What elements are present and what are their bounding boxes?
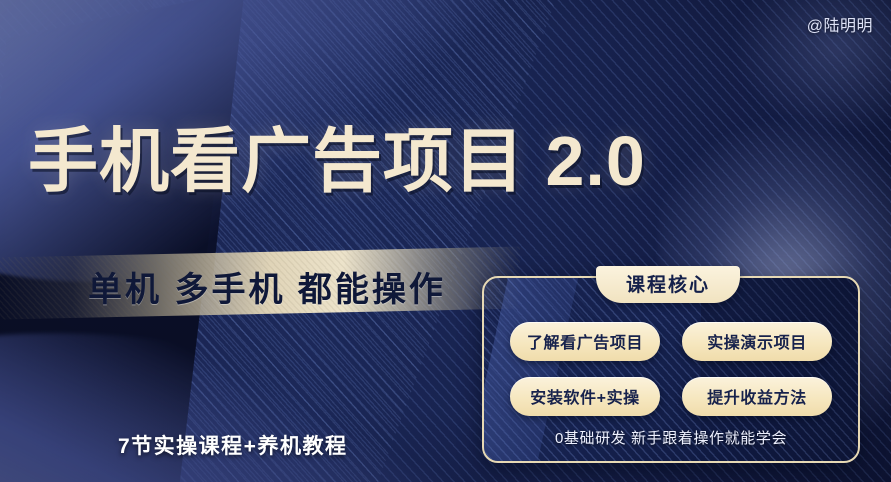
watermark-handle: @陆明明 [807, 12, 873, 36]
core-panel-banner: 课程核心 [596, 266, 740, 303]
course-count-line: 7节实操课程+养机教程 [118, 430, 347, 460]
promo-poster: @陆明明 手机看广告项目 2.0 单机 多手机 都能操作 7节实操课程+养机教程… [0, 0, 891, 482]
feature-pill-install-software[interactable]: 安装软件+实操 [510, 377, 660, 416]
feature-pill-row: 了解看广告项目 实操演示项目 [484, 322, 858, 361]
subtitle: 单机 多手机 都能操作 [88, 262, 446, 311]
panel-note: 0基础研发 新手跟着操作就能学会 [484, 427, 858, 448]
feature-pill-row: 安装软件+实操 提升收益方法 [484, 377, 858, 416]
feature-pill-group: 了解看广告项目 实操演示项目 安装软件+实操 提升收益方法 [484, 322, 858, 416]
feature-pill-understand-ad-project[interactable]: 了解看广告项目 [510, 322, 660, 361]
feature-pill-hands-on-demo[interactable]: 实操演示项目 [682, 322, 832, 361]
core-course-panel: 了解看广告项目 实操演示项目 安装软件+实操 提升收益方法 0基础研发 新手跟着… [482, 276, 860, 463]
feature-pill-increase-earnings[interactable]: 提升收益方法 [682, 377, 832, 416]
page-title: 手机看广告项目 2.0 [28, 126, 646, 196]
